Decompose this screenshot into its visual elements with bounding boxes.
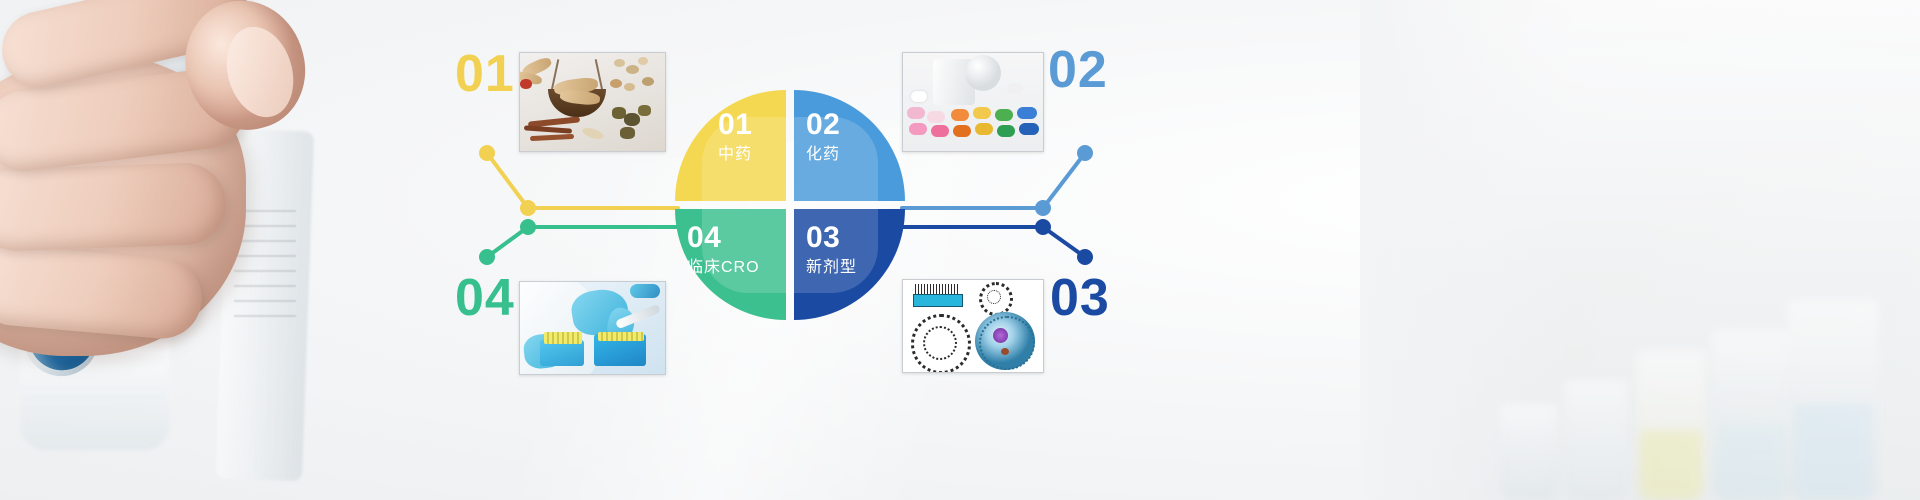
callout-number-03: 03 bbox=[1050, 272, 1110, 324]
connector-line-02 bbox=[902, 153, 1085, 208]
callout-image-02[interactable] bbox=[902, 52, 1044, 152]
wheel-label-04-name: 临床CRO bbox=[687, 260, 760, 276]
connector-line-04 bbox=[487, 227, 678, 257]
wheel-label-03-number: 03 bbox=[806, 223, 857, 253]
wheel-label-02: 02 化药 bbox=[806, 110, 840, 163]
liposome-diagram-image bbox=[903, 280, 1043, 372]
connector-dot-01-elbow bbox=[520, 200, 536, 216]
connector-dot-02-outer bbox=[1077, 145, 1093, 161]
connector-dot-02-elbow bbox=[1035, 200, 1051, 216]
callout-number-04: 04 bbox=[455, 272, 515, 324]
wheel-label-01: 01 中药 bbox=[718, 110, 752, 163]
callout-image-04[interactable] bbox=[519, 281, 666, 375]
callout-image-03[interactable] bbox=[902, 279, 1044, 373]
callout-image-01[interactable] bbox=[519, 52, 666, 152]
wheel-label-02-number: 02 bbox=[806, 110, 840, 140]
pills-capsules-photo bbox=[903, 53, 1043, 151]
wheel-label-01-number: 01 bbox=[718, 110, 752, 140]
banner-stage: 01 中药 02 化药 03 新剂型 04 临床CRO 01 02 03 04 bbox=[0, 0, 1920, 500]
connector-dot-01-outer bbox=[479, 145, 495, 161]
connector-line-01 bbox=[487, 153, 678, 208]
wheel-label-03-name: 新剂型 bbox=[806, 260, 857, 276]
connector-dot-03-elbow bbox=[1035, 219, 1051, 235]
wheel-label-03: 03 新剂型 bbox=[806, 223, 857, 276]
connector-dot-04-elbow bbox=[520, 219, 536, 235]
connector-line-03 bbox=[902, 227, 1085, 257]
wheel-label-02-name: 化药 bbox=[806, 147, 840, 163]
wheel-label-04: 04 临床CRO bbox=[687, 223, 760, 276]
four-quadrant-wheel bbox=[675, 90, 905, 320]
callout-number-02: 02 bbox=[1048, 44, 1108, 96]
callout-number-01: 01 bbox=[455, 48, 515, 100]
connector-dot-04-outer bbox=[479, 249, 495, 265]
wheel-label-04-number: 04 bbox=[687, 223, 760, 253]
tcm-herbs-photo bbox=[520, 53, 665, 151]
connector-dot-03-outer bbox=[1077, 249, 1093, 265]
wheel-label-01-name: 中药 bbox=[718, 147, 752, 163]
lab-researcher-photo bbox=[520, 282, 665, 374]
